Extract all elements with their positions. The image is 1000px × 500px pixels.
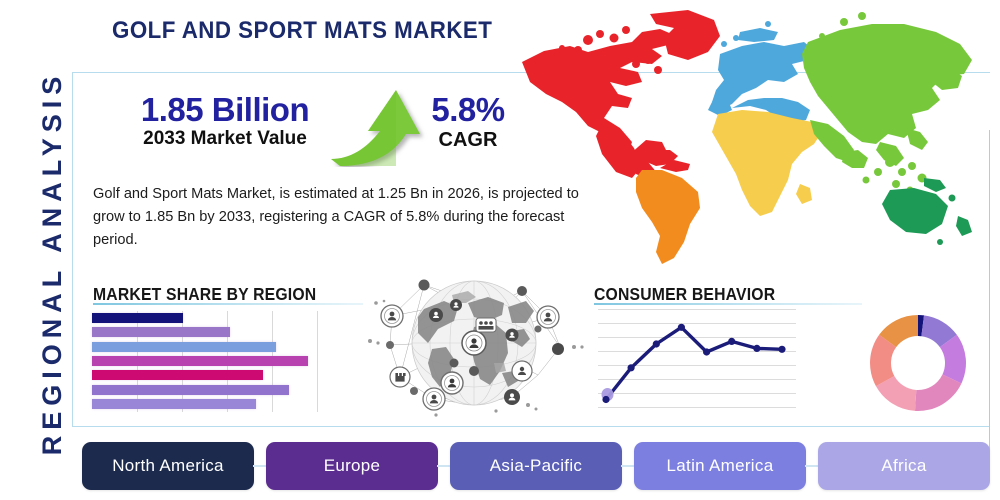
region-pill-north-america[interactable]: North America	[82, 442, 254, 490]
region-pill-label: Africa	[881, 456, 926, 476]
section-title-consumer-behavior: CONSUMER BEHAVIOR	[594, 284, 775, 305]
page-title: GOLF AND SPORT MATS MARKET	[112, 17, 492, 45]
regional-donut-chart	[864, 309, 972, 417]
world-map-icon	[492, 2, 992, 267]
market-value-label: 2033 Market Value	[100, 129, 350, 150]
consumer-behavior-line-chart	[598, 305, 796, 415]
region-pill-label: Asia-Pacific	[490, 456, 582, 476]
market-share-bar-chart	[92, 311, 362, 412]
pill-connector	[437, 465, 451, 467]
bar-chart-bar	[92, 399, 256, 409]
bar-chart-bar	[92, 313, 183, 323]
market-value-block: 1.85 Billion 2033 Market Value	[100, 92, 350, 150]
region-pill-label: Latin America	[667, 456, 774, 476]
region-pill-africa[interactable]: Africa	[818, 442, 990, 490]
pill-connector	[621, 465, 635, 467]
pill-connector	[805, 465, 819, 467]
kpi-row: 1.85 Billion 2033 Market Value 5.8% CAGR	[90, 92, 510, 164]
bar-chart-bar	[92, 370, 263, 380]
region-pill-latin-america[interactable]: Latin America	[634, 442, 806, 490]
regional-analysis-side-label: REGIONAL ANALYSIS	[35, 48, 69, 478]
bar-chart-bars	[92, 311, 362, 412]
region-pill-bar: North AmericaEuropeAsia-PacificLatin Ame…	[82, 442, 990, 492]
section-title-market-share: MARKET SHARE BY REGION	[93, 284, 316, 305]
region-pill-label: Europe	[324, 456, 381, 476]
bar-chart-bar	[92, 342, 276, 352]
line-chart-series	[598, 305, 796, 415]
region-pill-asia-pacific[interactable]: Asia-Pacific	[450, 442, 622, 490]
infographic-root: REGIONAL ANALYSIS GOLF AND SPORT MATS MA…	[0, 0, 1000, 500]
section-rule-market-share	[93, 303, 363, 305]
pill-connector	[253, 465, 267, 467]
bar-chart-bar	[92, 356, 308, 366]
globe-network-icon	[362, 271, 587, 421]
bar-chart-bar	[92, 385, 289, 395]
region-pill-europe[interactable]: Europe	[266, 442, 438, 490]
market-value-number: 1.85 Billion	[100, 92, 350, 128]
region-pill-label: North America	[112, 456, 224, 476]
bar-chart-bar	[92, 327, 230, 337]
